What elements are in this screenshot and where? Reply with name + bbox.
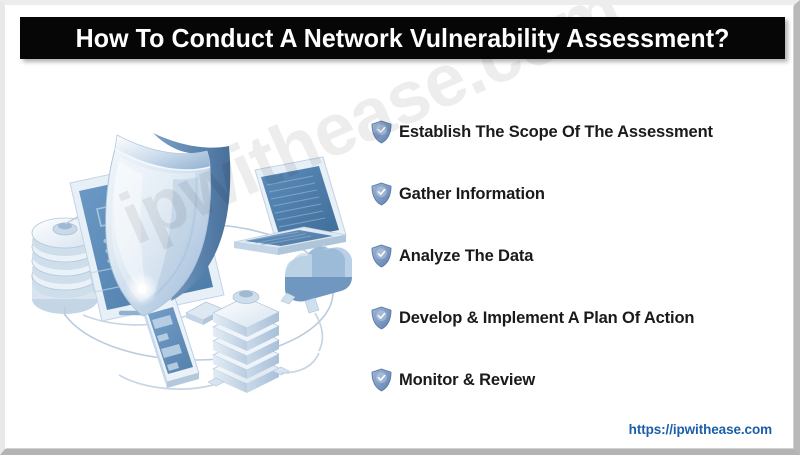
list-item: Monitor & Review [371,349,781,411]
list-item: Analyze The Data [371,225,781,287]
step-label: Establish The Scope Of The Assessment [399,123,713,142]
network-security-illustration [23,117,363,399]
step-label: Monitor & Review [399,371,535,390]
shield-check-icon [371,120,392,144]
step-label: Develop & Implement A Plan Of Action [399,309,694,328]
list-item: Develop & Implement A Plan Of Action [371,287,781,349]
shield-check-icon [371,182,392,206]
infographic-canvas: How To Conduct A Network Vulnerability A… [5,5,794,449]
shield-check-icon [371,368,392,392]
title-banner: How To Conduct A Network Vulnerability A… [20,17,785,59]
step-label: Analyze The Data [399,247,533,266]
shield-check-icon [371,306,392,330]
page-title: How To Conduct A Network Vulnerability A… [76,23,730,54]
list-item: Establish The Scope Of The Assessment [371,101,781,163]
step-label: Gather Information [399,185,545,204]
list-item: Gather Information [371,163,781,225]
infographic-frame: How To Conduct A Network Vulnerability A… [0,0,800,455]
cloud-node [281,247,352,351]
steps-list: Establish The Scope Of The Assessment Ga… [371,101,781,411]
shield-check-icon [371,244,392,268]
site-url-link[interactable]: https://ipwithease.com [629,422,772,437]
